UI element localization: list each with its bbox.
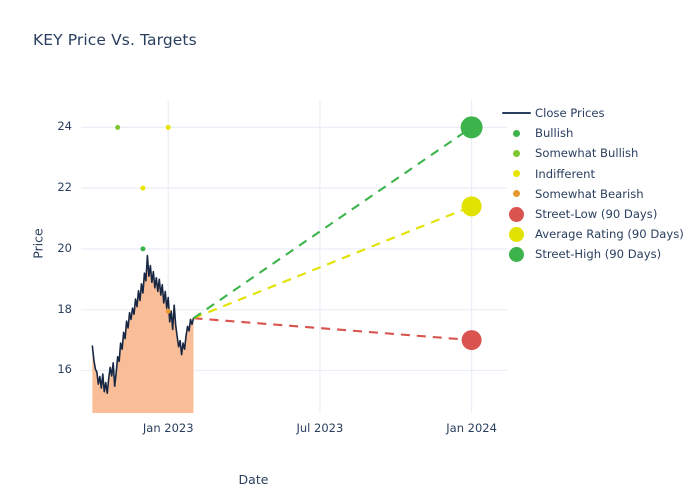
legend-dot-icon xyxy=(498,130,534,137)
y-tick-label: 22 xyxy=(32,180,72,194)
x-axis-title: Date xyxy=(0,472,507,487)
y-axis-title: Price xyxy=(31,204,46,284)
chart-legend: Close PricesBullishSomewhat BullishIndif… xyxy=(498,103,698,265)
legend-item[interactable]: Indifferent xyxy=(498,164,698,184)
legend-dot-icon xyxy=(498,150,534,157)
legend-item-label: Somewhat Bearish xyxy=(534,187,644,201)
legend-item[interactable]: Close Prices xyxy=(498,103,698,123)
legend-item[interactable]: Street-High (90 Days) xyxy=(498,244,698,264)
legend-item-label: Somewhat Bullish xyxy=(534,146,638,160)
y-tick-label: 16 xyxy=(32,362,72,376)
legend-item-label: Bullish xyxy=(534,126,573,140)
legend-dot-icon xyxy=(498,227,534,242)
legend-item-label: Street-High (90 Days) xyxy=(534,247,661,261)
legend-dot-icon xyxy=(498,190,534,197)
legend-item[interactable]: Bullish xyxy=(498,123,698,143)
y-tick-label: 24 xyxy=(32,119,72,133)
x-tick-label: Jul 2023 xyxy=(275,421,365,435)
legend-dot-icon xyxy=(498,207,534,222)
legend-item-label: Indifferent xyxy=(534,167,595,181)
legend-item-label: Average Rating (90 Days) xyxy=(534,227,684,241)
legend-item[interactable]: Average Rating (90 Days) xyxy=(498,224,698,244)
chart-container: KEY Price Vs. Targets 2422201816 Jan 202… xyxy=(0,0,700,500)
legend-item-label: Close Prices xyxy=(534,106,605,120)
legend-dot-icon xyxy=(498,170,534,177)
legend-item-label: Street-Low (90 Days) xyxy=(534,207,657,221)
legend-item[interactable]: Street-Low (90 Days) xyxy=(498,204,698,224)
legend-line-icon xyxy=(498,112,534,114)
legend-dot-icon xyxy=(498,247,534,262)
y-tick-label: 18 xyxy=(32,302,72,316)
series-layer xyxy=(92,116,482,413)
x-tick-label: Jan 2024 xyxy=(427,421,517,435)
legend-item[interactable]: Somewhat Bearish xyxy=(498,184,698,204)
x-tick-label: Jan 2023 xyxy=(123,421,213,435)
legend-item[interactable]: Somewhat Bullish xyxy=(498,143,698,163)
